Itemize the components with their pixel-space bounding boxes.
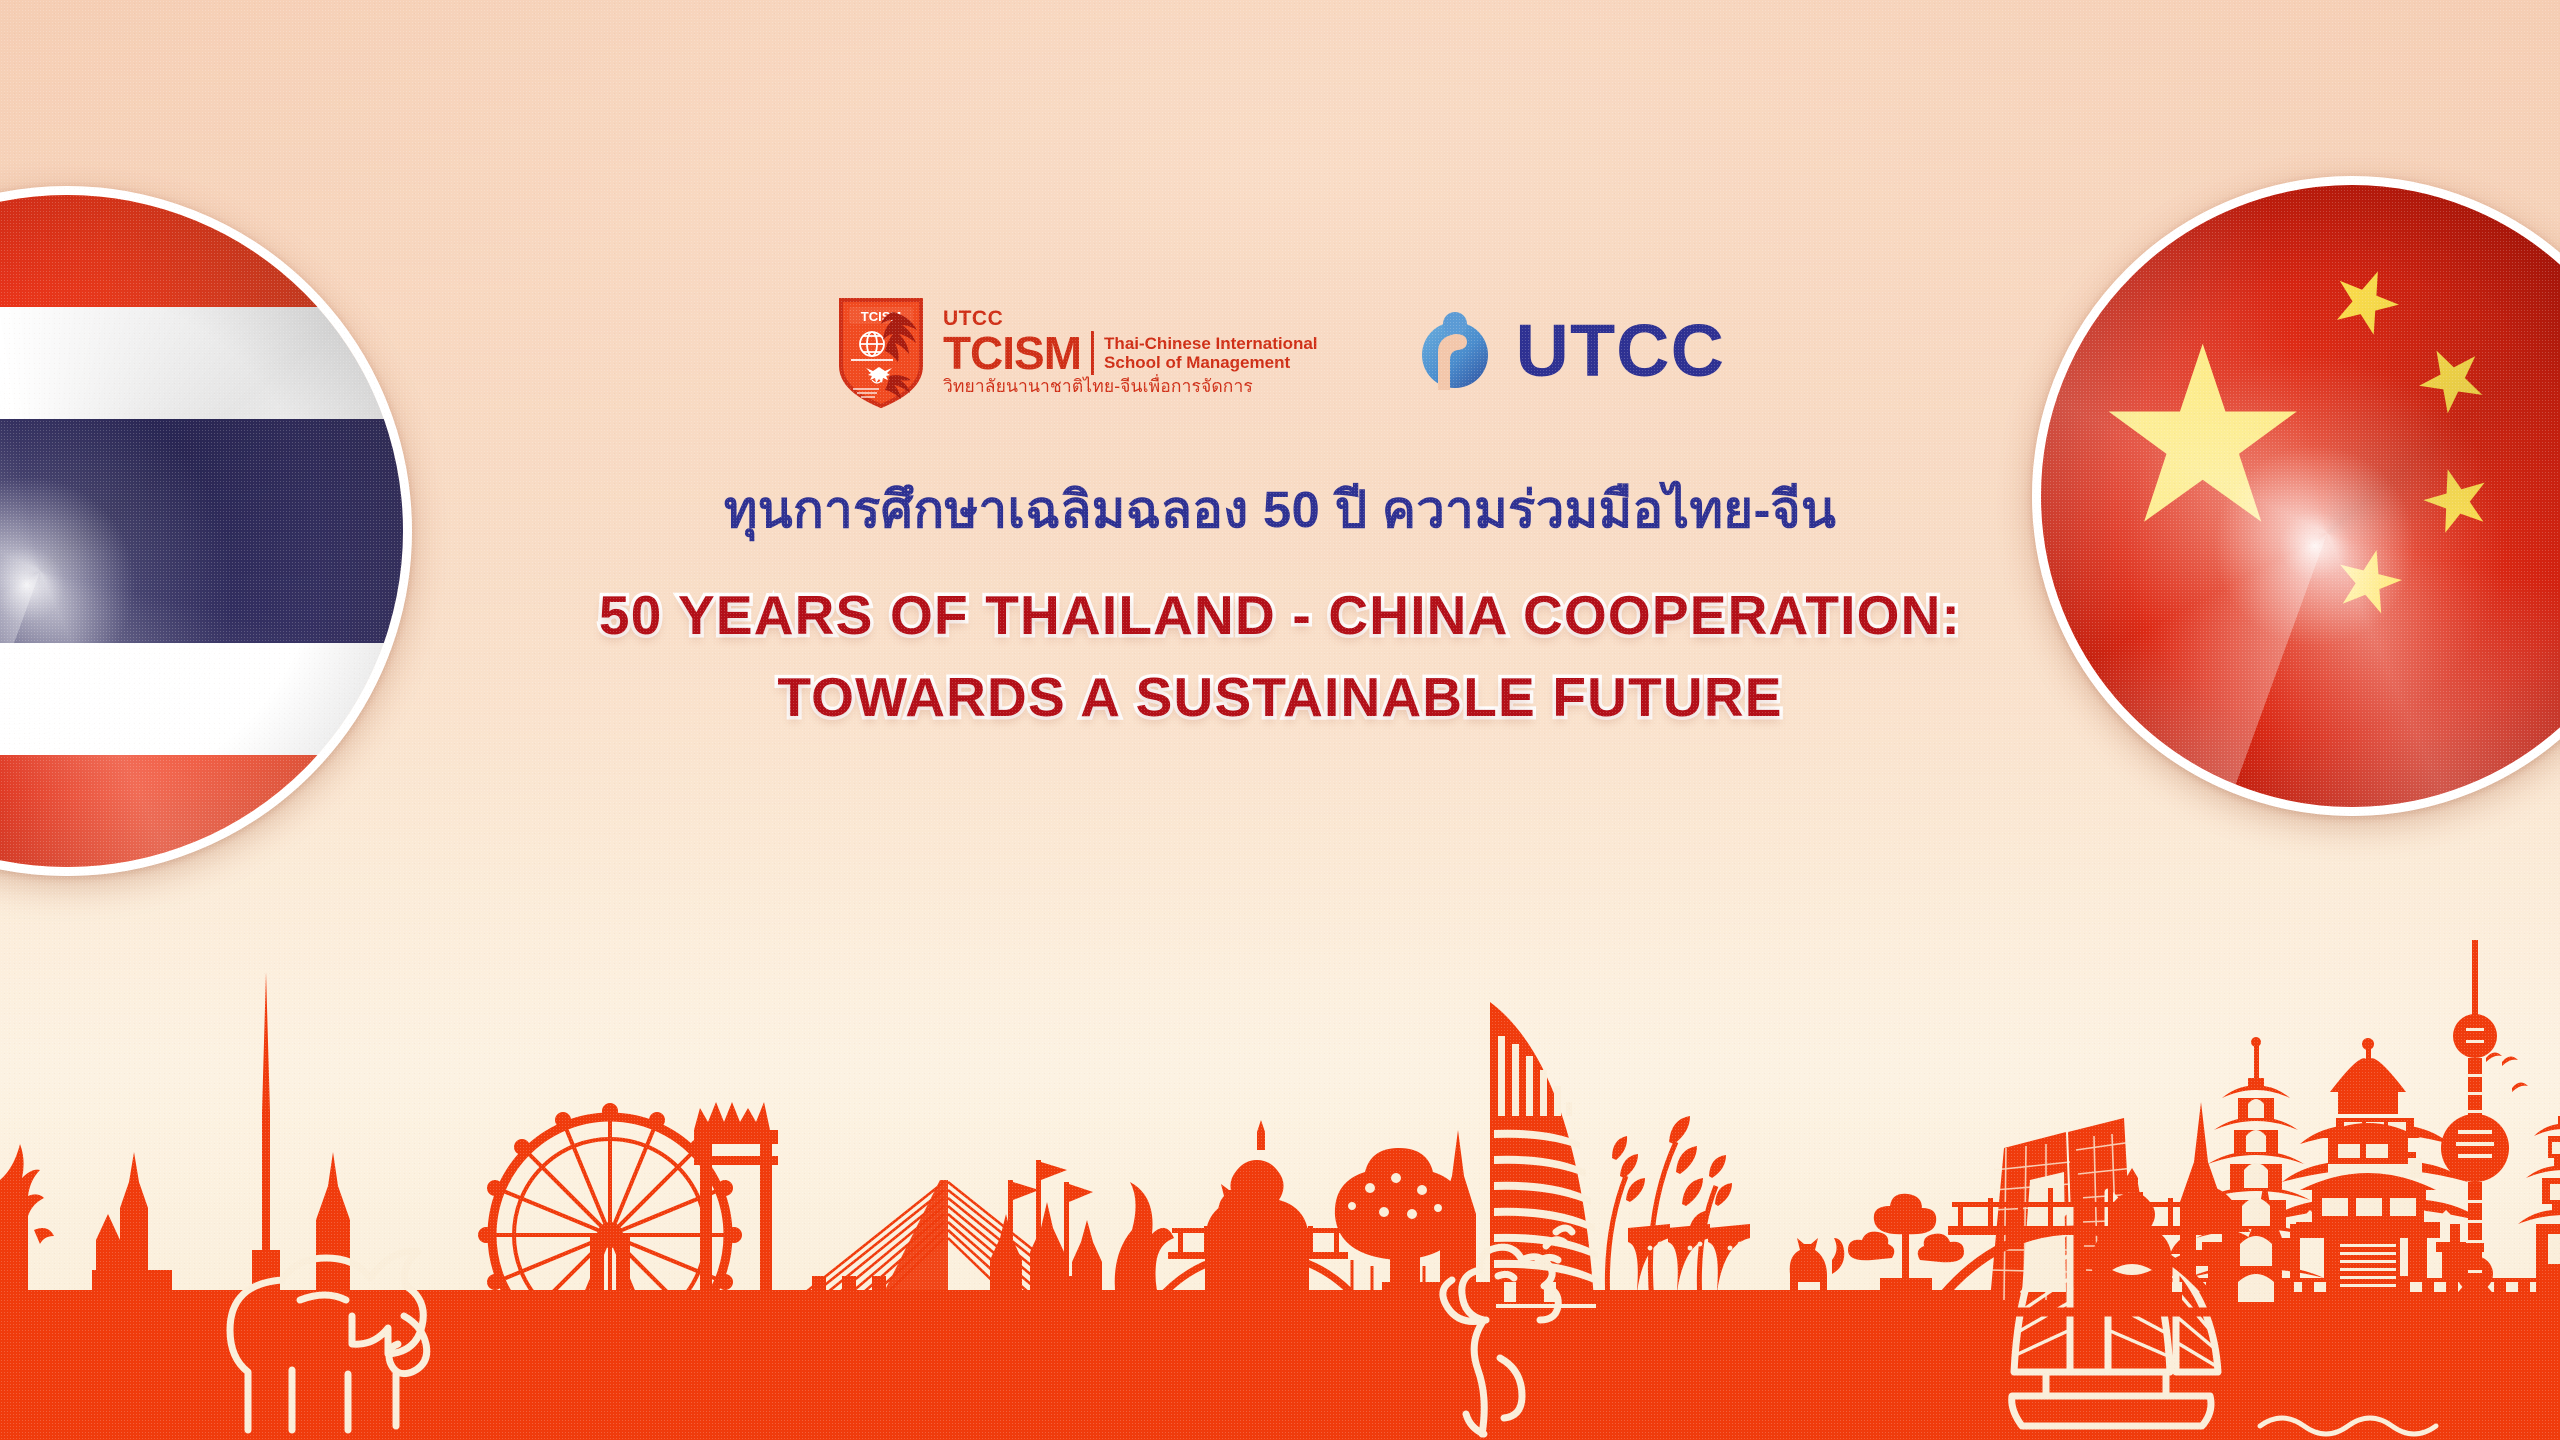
headline-thai: ทุนการศึกษาเฉลิมฉลอง 50 ปี ความร่วมมือไท…	[0, 478, 2560, 542]
wat-arun-prang	[2112, 1102, 2292, 1304]
elephant-outline	[230, 1252, 427, 1430]
utcc-person-circle-icon	[1414, 310, 1496, 392]
flying-birds-icon	[2486, 1052, 2528, 1092]
tiered-pagoda-tower	[2188, 1037, 2324, 1304]
temple-chedi-a	[316, 1152, 350, 1300]
tcism-divider	[1091, 331, 1094, 375]
logo-row: TCISM	[0, 292, 2560, 410]
event-banner: TCISM	[0, 0, 2560, 1440]
thai-kinnari-ornament	[0, 1144, 54, 1300]
arched-bridge-with-cat	[1158, 1184, 1358, 1306]
utcc-wordmark: UTCC	[1516, 314, 1726, 388]
globe-icon	[860, 332, 884, 356]
temple-prang-left	[92, 1152, 172, 1300]
water-waves-outline	[2260, 1418, 2458, 1440]
headline-english-line-2: TOWARDS A SUSTAINABLE FUTURE	[0, 658, 2560, 736]
center-thai-flags	[990, 1160, 1102, 1300]
bonsai-tree	[1848, 1194, 1964, 1302]
chinese-junk-boat-outline	[2012, 1192, 2218, 1426]
tcism-shield-icon: TCISM	[835, 292, 927, 410]
tcism-thai-name: วิทยาลัยนานาชาติไทย-จีนเพื่อการจัดการ	[943, 378, 1318, 396]
rice-stalks	[1607, 1116, 1732, 1302]
oriental-pearl-tower	[2430, 940, 2520, 1334]
headline-block: ทุนการศึกษาเฉลิมฉลอง 50 ปี ความร่วมมือไท…	[0, 478, 2560, 736]
festival-tents	[1628, 1224, 1750, 1300]
chinese-pagoda-pavilion	[2158, 1188, 2274, 1302]
city-skyline-silhouette	[0, 830, 2560, 1440]
giant-swing	[694, 1102, 778, 1310]
temple-of-heaven-stairs	[2336, 1238, 2400, 1298]
muay-thai-fighter-outline	[1443, 1228, 1572, 1434]
tcism-text-lockup: UTCC TCISM Thai-Chinese International Sc…	[943, 306, 1318, 396]
walking-cat-icon	[1790, 1238, 1845, 1300]
rain-tree	[1335, 1148, 1463, 1302]
thai-stripe-red-bottom	[0, 755, 403, 867]
tcism-logo: TCISM	[835, 292, 1318, 410]
temple-chedi-cluster	[1382, 1130, 1532, 1304]
temple-of-heaven	[2296, 1038, 2440, 1298]
china-tall-landmarks	[0, 830, 2560, 1440]
great-wall-tower	[2202, 1242, 2484, 1282]
sail-shaped-tower	[1478, 1002, 1608, 1312]
china-arch-bridge	[1936, 1186, 2216, 1312]
sitting-cat-icon	[1218, 1184, 1254, 1226]
tcism-wordmark: TCISM	[943, 332, 1081, 374]
utcc-logo: UTCC	[1414, 310, 1726, 392]
asiatique-ferris-wheel	[478, 1103, 742, 1367]
thai-kranok-ornament	[1115, 1182, 1174, 1300]
thai-stripe-red-top	[0, 195, 403, 307]
headline-english-line-1: 50 YEARS OF THAILAND - CHINA COOPERATION…	[0, 576, 2560, 654]
rama-viii-bridge	[800, 1180, 1100, 1304]
great-wall	[2160, 1242, 2560, 1304]
paifang-gate	[2266, 1118, 2484, 1300]
seated-buddha-statue	[1195, 1120, 1325, 1308]
tcism-utcc-kicker: UTCC	[943, 308, 1318, 329]
big-buddha-statue	[2082, 1168, 2182, 1308]
chinese-pagoda-far-right	[2518, 1116, 2560, 1300]
cctv-headquarters	[1990, 1118, 2138, 1300]
victory-monument-spire	[252, 972, 280, 1300]
tcism-tagline: Thai-Chinese International School of Man…	[1104, 334, 1317, 373]
